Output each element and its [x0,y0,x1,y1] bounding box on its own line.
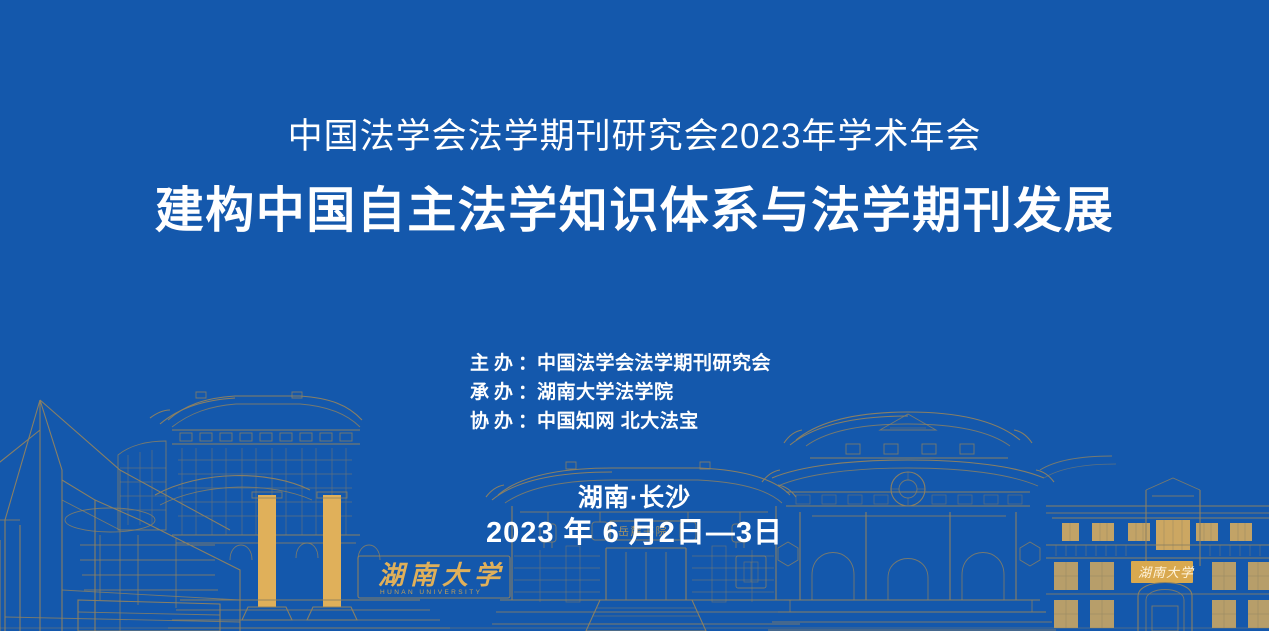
organizer-colon-organizer: ： [518,382,537,403]
organizer-value-coorganizer: 中国知网 北大法宝 [537,411,699,432]
organizer-label-organizer: 承办 [470,382,518,403]
organizer-row-coorganizer: 协办：中国知网 北大法宝 [470,407,771,436]
banner-text: 中国法学会法学期刊研究会2023年学术年会 建构中国自主法学知识体系与法学期刊发… [0,0,1269,631]
organizer-row-host: 主办：中国法学会法学期刊研究会 [470,349,771,378]
conference-banner: .ln { fill:none; stroke:#8f8260; stroke-… [0,0,1269,631]
organizer-value-organizer: 湖南大学法学院 [537,382,674,403]
event-date: 2023 年 6 月2日—3日 [0,509,1269,551]
organizer-value-host: 中国法学会法学期刊研究会 [537,353,771,374]
organizer-label-coorganizer: 协办 [470,411,518,432]
organizer-list: 主办：中国法学会法学期刊研究会 承办：湖南大学法学院 协办：中国知网 北大法宝 [470,349,771,436]
organizer-colon-coorganizer: ： [518,411,537,432]
organizer-colon-host: ： [518,353,537,374]
event-main-title: 建构中国自主法学知识体系与法学期刊发展 [0,180,1269,244]
organizer-label-host: 主办 [470,353,518,374]
organizer-row-organizer: 承办：湖南大学法学院 [470,378,771,407]
event-subtitle: 中国法学会法学期刊研究会2023年学术年会 [0,115,1269,159]
